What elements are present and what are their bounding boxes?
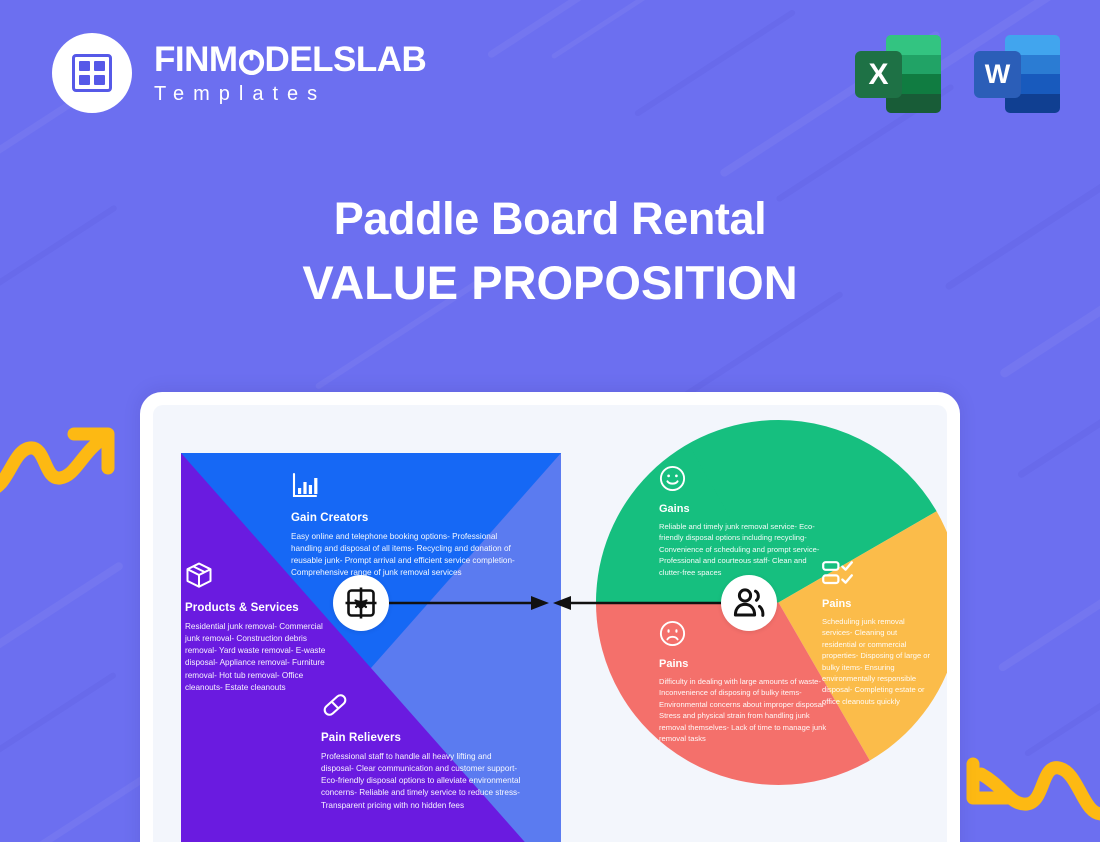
word-badge[interactable]: W [974, 30, 1060, 118]
slide-preview-page: FINMDELSLAB Templates X W Paddle [0, 0, 1100, 842]
package-box-icon [185, 561, 213, 589]
panel-title: Products & Services [185, 602, 335, 614]
slide-canvas: Gain Creators Easy online and telephone … [153, 405, 947, 842]
brand-logo[interactable]: FINMDELSLAB Templates [52, 33, 426, 113]
page-subtitle: VALUE PROPOSITION [0, 255, 1100, 310]
panel-gains[interactable]: Gains Reliable and timely junk removal s… [659, 465, 821, 578]
bar-chart-icon [291, 471, 319, 499]
panel-body: Residential junk removal- Commercial jun… [185, 621, 335, 694]
page-title: Paddle Board Rental [0, 192, 1100, 245]
brush-stroke [551, 0, 680, 59]
users-people-icon [732, 587, 766, 619]
grid-squares-icon [72, 54, 112, 92]
gift-box-node[interactable] [333, 575, 389, 631]
brush-stroke [1017, 348, 1100, 479]
brush-stroke [487, 0, 684, 59]
panel-pain-relievers[interactable]: Pain Relievers Professional staff to han… [321, 691, 521, 812]
gift-box-icon [344, 586, 378, 620]
panel-body: Scheduling junk removal services- Cleani… [822, 616, 932, 707]
panel-title: Pains [822, 598, 932, 610]
value-map-square[interactable]: Gain Creators Easy online and telephone … [181, 453, 561, 842]
word-letter: W [974, 51, 1021, 98]
logo-wordmark: FINMDELSLAB [154, 42, 426, 77]
panel-pains-lower[interactable]: Pains Difficulty in dealing with large a… [659, 620, 837, 744]
squiggle-arrow-down-left-icon [955, 748, 1100, 842]
smiley-sad-icon [659, 620, 686, 647]
brush-stroke [0, 561, 124, 688]
brush-stroke [1024, 649, 1100, 758]
squiggle-arrow-up-right-icon [0, 404, 121, 499]
slide-card[interactable]: Gain Creators Easy online and telephone … [140, 392, 960, 842]
logo-text-block: FINMDELSLAB Templates [154, 42, 426, 104]
panel-body: Professional staff to handle all heavy l… [321, 751, 521, 812]
power-o-icon [238, 42, 265, 77]
panel-title: Gains [659, 503, 821, 515]
panel-title: Gain Creators [291, 512, 519, 524]
office-file-badges: X W [855, 30, 1060, 118]
logo-mark [52, 33, 132, 113]
smiley-happy-icon [659, 465, 686, 492]
excel-badge[interactable]: X [855, 30, 941, 118]
checklist-icon [822, 560, 854, 587]
pill-capsule-icon [321, 691, 349, 719]
excel-letter: X [855, 51, 902, 98]
panel-body: Reliable and timely junk removal service… [659, 521, 821, 578]
title-block: Paddle Board Rental VALUE PROPOSITION [0, 192, 1100, 311]
brush-stroke [997, 535, 1100, 672]
brush-stroke [634, 9, 797, 118]
panel-products-services[interactable]: Products & Services Residential junk rem… [185, 561, 335, 694]
panel-pains-right[interactable]: Pains Scheduling junk removal services- … [822, 560, 932, 707]
logo-tagline: Templates [154, 84, 426, 104]
panel-body: Difficulty in dealing with large amounts… [659, 676, 837, 744]
panel-title: Pains [659, 658, 837, 670]
people-node[interactable] [721, 575, 777, 631]
brush-stroke [0, 671, 117, 774]
panel-title: Pain Relievers [321, 732, 521, 744]
